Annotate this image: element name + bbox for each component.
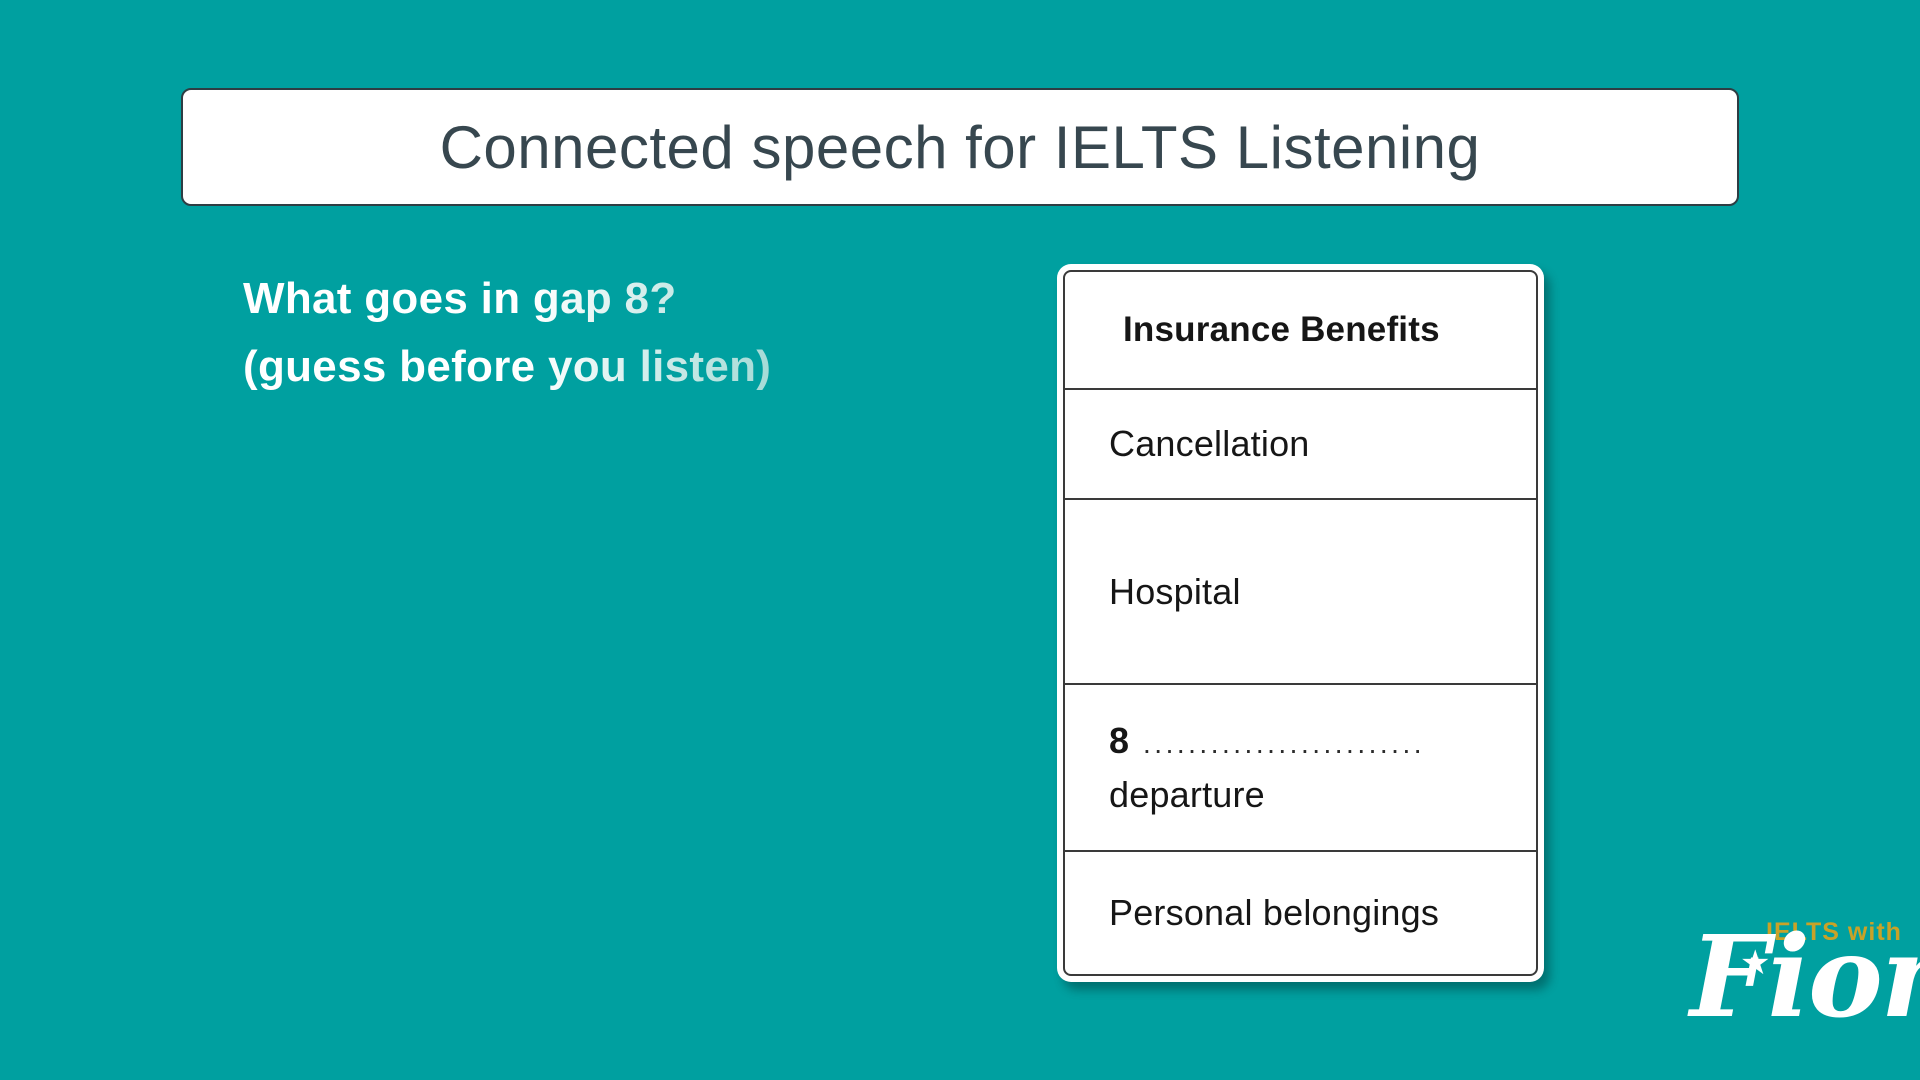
table-cell-personal-belongings: Personal belongings <box>1109 892 1536 934</box>
table-cell-hospital: Hospital <box>1109 571 1536 613</box>
gap-answer-line: 8 .................................... <box>1109 720 1536 762</box>
gap-number-8: 8 <box>1109 720 1129 762</box>
slide-canvas: Connected speech for IELTS Listening Wha… <box>0 0 1920 1080</box>
table-row: Personal belongings <box>1065 852 1536 974</box>
prompt-line-1: What goes in gap 8? <box>243 265 963 333</box>
insurance-benefits-table: Insurance Benefits Cancellation Hospital… <box>1063 270 1538 976</box>
page-title: Connected speech for IELTS Listening <box>440 113 1481 182</box>
question-prompt: What goes in gap 8? (guess before you li… <box>243 265 963 401</box>
table-header-row: Insurance Benefits <box>1065 272 1536 390</box>
prompt-line-2: (guess before you listen) <box>243 333 963 401</box>
slide-title-box: Connected speech for IELTS Listening <box>181 88 1739 206</box>
insurance-benefits-card: Insurance Benefits Cancellation Hospital… <box>1057 264 1544 982</box>
star-icon: ★ <box>1740 946 1770 980</box>
logo-name: Fiona <box>1690 922 1920 1034</box>
table-header-label: Insurance Benefits <box>1123 310 1536 350</box>
table-row: Hospital <box>1065 500 1536 685</box>
table-row-gap-8: 8 .................................... d… <box>1065 685 1536 852</box>
brand-logo: IELTS with Fiona ★ <box>1688 908 1908 1068</box>
table-row: Cancellation <box>1065 390 1536 500</box>
gap-dotted-blank: .................................... <box>1143 728 1425 760</box>
table-cell-departure: departure <box>1109 774 1536 816</box>
table-cell-cancellation: Cancellation <box>1109 423 1536 465</box>
